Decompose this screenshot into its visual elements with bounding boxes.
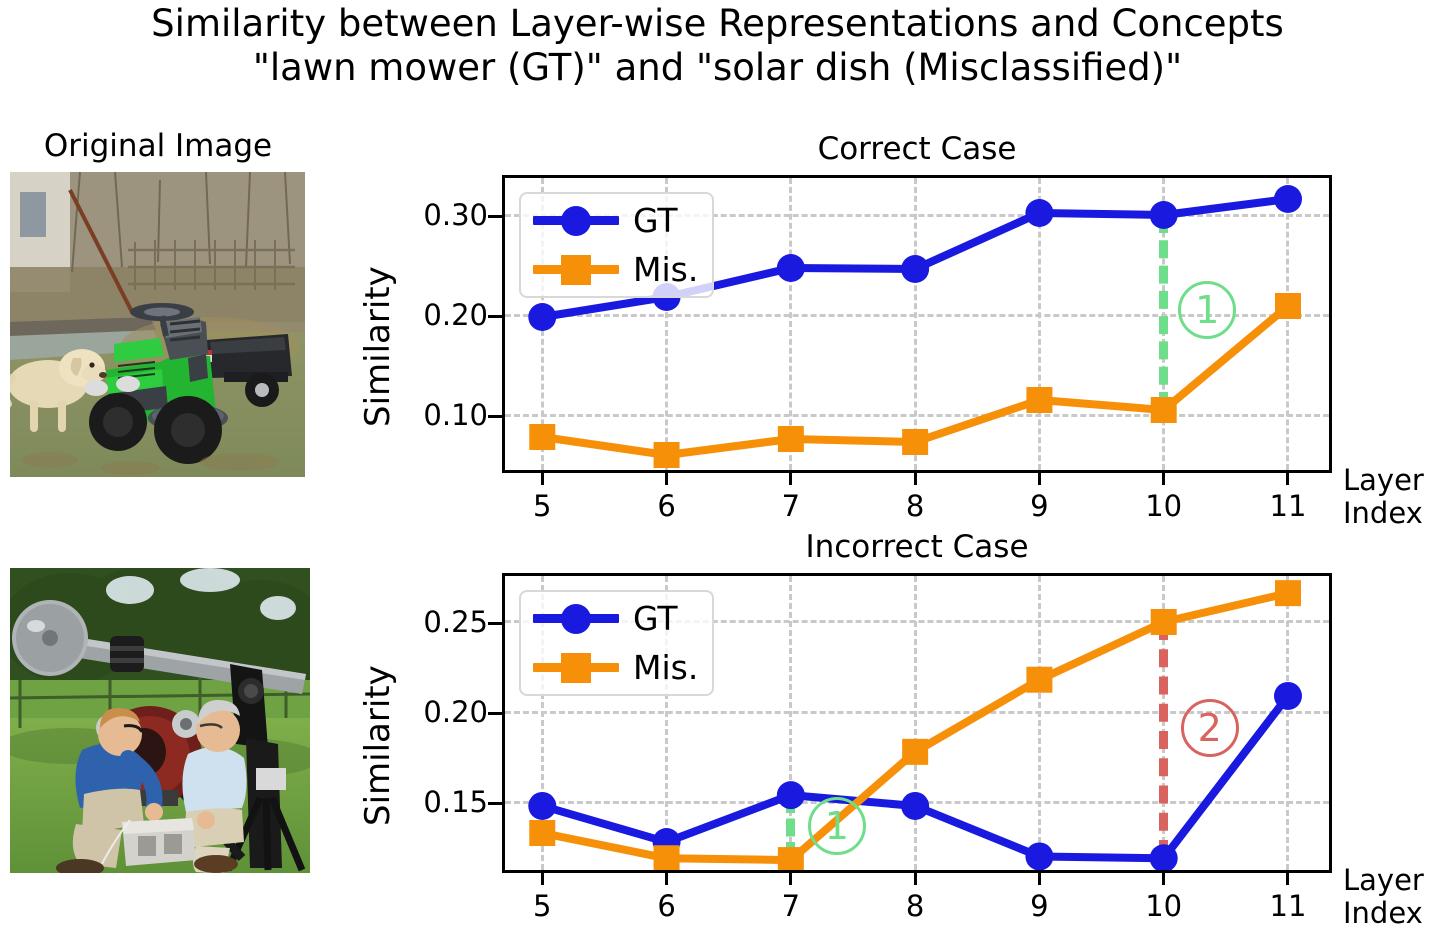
data-point — [1150, 201, 1178, 229]
x-axis-label-bottom-line2: Index — [1343, 897, 1424, 930]
chart-title-correct-case: Correct Case — [502, 131, 1332, 167]
legend-bottom[interactable]: GT Mis. — [519, 590, 714, 696]
data-point — [901, 255, 929, 283]
solar-dish-photo-icon — [10, 568, 310, 873]
x-tick-mark — [1038, 873, 1041, 885]
series-line-gt — [542, 696, 1288, 858]
x-tick-label: 10 — [1145, 889, 1182, 923]
x-tick-label: 5 — [533, 889, 551, 923]
x-tick-mark — [665, 473, 668, 485]
x-tick-mark — [1286, 473, 1289, 485]
y-tick-mark — [488, 622, 502, 625]
chart-title-incorrect-case: Incorrect Case — [502, 529, 1332, 565]
legend-marker-mis-bottom — [561, 653, 591, 683]
x-tick-mark — [1162, 873, 1165, 885]
data-point — [654, 845, 680, 870]
data-point — [778, 847, 804, 870]
legend-line-mis-bottom — [533, 663, 619, 672]
y-tick-mark — [488, 215, 502, 218]
original-image-label: Original Image — [8, 128, 308, 164]
x-tick-label: 7 — [782, 889, 800, 923]
data-point — [902, 429, 928, 455]
y-tick-label: 0.20 — [370, 298, 488, 332]
legend-entry-gt-bottom: GT — [533, 602, 698, 635]
x-tick-label: 6 — [657, 889, 675, 923]
plot-area-incorrect-case: 12 GT Mis. — [502, 573, 1332, 873]
data-point — [1025, 199, 1053, 227]
annotation-badge-1: 1 — [808, 797, 866, 855]
y-tick-label: 0.25 — [370, 605, 488, 639]
data-point — [778, 426, 804, 452]
legend-entry-mis-bottom: Mis. — [533, 651, 698, 684]
legend-marker-gt-bottom — [561, 604, 591, 634]
x-tick-label: 8 — [906, 489, 924, 523]
y-tick-label: 0.10 — [370, 398, 488, 432]
figure-title-line-2: "lawn mower (GT)" and "solar dish (Miscl… — [0, 46, 1435, 90]
legend-label-gt-top: GT — [633, 204, 678, 237]
y-tick-mark — [488, 802, 502, 805]
data-point — [1026, 387, 1052, 413]
data-point — [901, 792, 929, 820]
x-tick-mark — [665, 873, 668, 885]
x-tick-label: 5 — [533, 489, 551, 523]
y-tick-mark — [488, 415, 502, 418]
annotation-badge-2: 2 — [1181, 699, 1239, 757]
x-tick-mark — [1038, 473, 1041, 485]
data-point — [529, 820, 555, 846]
data-point — [1275, 580, 1301, 606]
x-tick-mark — [914, 873, 917, 885]
plot-area-correct-case: 1 GT Mis. — [502, 175, 1332, 473]
y-tick-label: 0.30 — [370, 198, 488, 232]
data-point — [1274, 185, 1302, 213]
data-point — [777, 781, 805, 809]
lawn-mower-photo-icon — [10, 172, 305, 477]
data-point — [1026, 667, 1052, 693]
x-tick-label: 11 — [1270, 489, 1307, 523]
x-axis-label-bottom: Layer Index — [1343, 864, 1424, 930]
data-point — [654, 442, 680, 468]
x-tick-mark — [789, 473, 792, 485]
cinder-block — [122, 818, 196, 866]
x-tick-label: 10 — [1145, 489, 1182, 523]
y-tick-mark — [488, 315, 502, 318]
annotation-badge-1: 1 — [1178, 281, 1236, 339]
x-tick-mark — [1162, 473, 1165, 485]
data-point — [529, 424, 555, 450]
x-tick-mark — [1286, 873, 1289, 885]
legend-marker-mis-top — [561, 255, 591, 285]
figure-canvas: Similarity between Layer-wise Representa… — [0, 0, 1435, 933]
x-tick-mark — [789, 873, 792, 885]
y-tick-label: 0.15 — [370, 785, 488, 819]
figure-title-line-1: Similarity between Layer-wise Representa… — [151, 2, 1284, 45]
legend-marker-gt-top — [561, 206, 591, 236]
x-tick-label: 6 — [657, 489, 675, 523]
legend-label-gt-bottom: GT — [633, 602, 678, 635]
x-tick-label: 8 — [906, 889, 924, 923]
x-tick-label: 9 — [1030, 489, 1048, 523]
legend-entry-gt-top: GT — [533, 204, 698, 237]
data-point — [902, 739, 928, 765]
legend-line-mis-top — [533, 265, 619, 274]
data-point — [528, 303, 556, 331]
x-tick-mark — [914, 473, 917, 485]
legend-label-mis-top: Mis. — [633, 253, 698, 286]
x-tick-label: 7 — [782, 489, 800, 523]
data-point — [777, 254, 805, 282]
data-point — [1274, 682, 1302, 710]
data-point — [1275, 293, 1301, 319]
x-tick-label: 11 — [1270, 889, 1307, 923]
data-point — [1151, 609, 1177, 635]
x-axis-label-top-line2: Index — [1343, 497, 1424, 530]
legend-top[interactable]: GT Mis. — [519, 192, 714, 298]
x-axis-label-top: Layer Index — [1343, 464, 1424, 530]
x-tick-mark — [541, 473, 544, 485]
y-tick-mark — [488, 712, 502, 715]
x-tick-mark — [541, 873, 544, 885]
figure-title: Similarity between Layer-wise Representa… — [0, 2, 1435, 90]
original-image-lawn-mower — [10, 172, 305, 477]
data-point — [1025, 842, 1053, 870]
y-tick-label: 0.20 — [370, 695, 488, 729]
x-axis-label-bottom-line1: Layer — [1343, 864, 1424, 897]
data-point — [1151, 397, 1177, 423]
legend-line-gt-bottom — [533, 614, 619, 623]
legend-line-gt-top — [533, 216, 619, 225]
x-tick-label: 9 — [1030, 889, 1048, 923]
data-point — [528, 792, 556, 820]
legend-entry-mis-top: Mis. — [533, 253, 698, 286]
original-image-solar-dish — [10, 568, 310, 873]
x-axis-label-top-line1: Layer — [1343, 464, 1424, 497]
legend-label-mis-bottom: Mis. — [633, 651, 698, 684]
